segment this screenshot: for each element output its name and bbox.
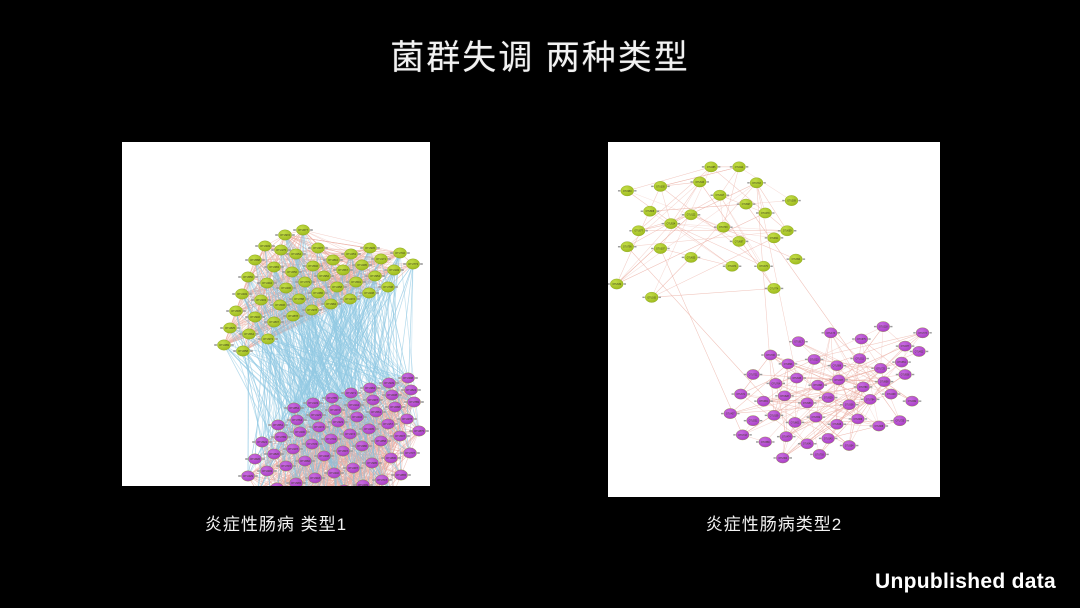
network-graph-type1: OTU972OTU677OTU175OTU349OTU254OTU307OTU5… <box>122 142 430 486</box>
svg-text:OTU486: OTU486 <box>313 291 323 295</box>
svg-text:OTU499: OTU499 <box>358 483 368 486</box>
svg-text:OTU144: OTU144 <box>349 403 359 407</box>
svg-text:OTU851: OTU851 <box>897 362 906 364</box>
svg-text:OTU725: OTU725 <box>896 421 905 423</box>
svg-text:OTU743: OTU743 <box>738 435 747 437</box>
svg-text:OTU997: OTU997 <box>742 204 751 206</box>
svg-text:OTU671: OTU671 <box>737 394 746 396</box>
svg-text:OTU820: OTU820 <box>269 452 279 456</box>
panel-background-right <box>608 142 940 497</box>
svg-text:OTU380: OTU380 <box>357 444 367 448</box>
svg-text:OTU794: OTU794 <box>866 399 875 401</box>
svg-text:OTU821: OTU821 <box>770 238 779 240</box>
svg-text:OTU175: OTU175 <box>276 248 286 252</box>
svg-text:OTU638: OTU638 <box>387 393 397 397</box>
svg-text:OTU159: OTU159 <box>770 415 779 417</box>
svg-text:OTU972: OTU972 <box>280 233 290 237</box>
svg-text:OTU524: OTU524 <box>257 440 267 444</box>
svg-text:OTU875: OTU875 <box>414 429 424 433</box>
svg-text:OTU939: OTU939 <box>384 381 394 385</box>
svg-text:OTU485: OTU485 <box>707 167 716 169</box>
svg-text:OTU658: OTU658 <box>238 349 248 353</box>
svg-text:OTU152: OTU152 <box>812 417 821 419</box>
svg-text:OTU708: OTU708 <box>383 285 393 289</box>
svg-text:OTU507: OTU507 <box>395 434 405 438</box>
svg-text:OTU364: OTU364 <box>778 458 787 460</box>
svg-text:OTU697: OTU697 <box>735 241 744 243</box>
svg-text:OTU133: OTU133 <box>308 401 318 405</box>
svg-text:OTU405: OTU405 <box>364 427 374 431</box>
svg-text:OTU971: OTU971 <box>346 391 356 395</box>
svg-text:OTU789: OTU789 <box>859 387 868 389</box>
svg-text:OTU773: OTU773 <box>918 333 927 335</box>
svg-text:OTU442: OTU442 <box>352 415 362 419</box>
svg-text:OTU149: OTU149 <box>389 268 399 272</box>
svg-text:OTU417: OTU417 <box>716 195 725 197</box>
svg-text:OTU254: OTU254 <box>291 252 301 256</box>
svg-text:OTU796: OTU796 <box>623 247 632 249</box>
svg-text:OTU774: OTU774 <box>770 288 779 290</box>
svg-text:OTU469: OTU469 <box>854 419 863 421</box>
svg-text:OTU384: OTU384 <box>365 386 375 390</box>
network-panel-type1: OTU972OTU677OTU175OTU349OTU254OTU307OTU5… <box>122 142 430 486</box>
svg-text:OTU251: OTU251 <box>749 421 758 423</box>
svg-text:OTU448: OTU448 <box>319 454 329 458</box>
svg-text:OTU440: OTU440 <box>329 471 339 475</box>
svg-text:OTU937: OTU937 <box>834 380 843 382</box>
svg-text:OTU477: OTU477 <box>901 346 910 348</box>
svg-text:OTU591: OTU591 <box>351 280 361 284</box>
svg-text:OTU470: OTU470 <box>761 213 770 215</box>
svg-text:OTU171: OTU171 <box>376 257 386 261</box>
svg-text:OTU323: OTU323 <box>333 420 343 424</box>
svg-text:OTU303: OTU303 <box>256 298 266 302</box>
svg-text:OTU165: OTU165 <box>647 297 656 299</box>
svg-text:OTU157: OTU157 <box>383 422 393 426</box>
svg-text:OTU561: OTU561 <box>371 410 381 414</box>
svg-text:OTU509: OTU509 <box>787 201 796 203</box>
svg-text:OTU983: OTU983 <box>623 191 632 193</box>
svg-text:OTU865: OTU865 <box>396 473 406 477</box>
svg-text:OTU505: OTU505 <box>231 309 241 313</box>
svg-text:OTU706: OTU706 <box>766 355 775 357</box>
svg-text:OTU332: OTU332 <box>908 401 917 403</box>
svg-text:OTU556: OTU556 <box>901 374 910 376</box>
svg-text:OTU953: OTU953 <box>803 403 812 405</box>
svg-text:OTU733: OTU733 <box>307 442 317 446</box>
svg-text:OTU659: OTU659 <box>783 231 792 233</box>
svg-text:OTU858: OTU858 <box>376 439 386 443</box>
svg-text:OTU409: OTU409 <box>887 394 896 396</box>
svg-text:OTU929: OTU929 <box>824 398 833 400</box>
svg-text:OTU422: OTU422 <box>915 351 924 353</box>
svg-text:OTU546: OTU546 <box>308 264 318 268</box>
svg-text:OTU810: OTU810 <box>328 258 338 262</box>
svg-text:OTU458: OTU458 <box>332 285 342 289</box>
svg-text:OTU308: OTU308 <box>403 376 413 380</box>
svg-text:OTU295: OTU295 <box>357 263 367 267</box>
svg-text:OTU123: OTU123 <box>311 413 321 417</box>
svg-text:OTU200: OTU200 <box>295 430 305 434</box>
svg-text:OTU307: OTU307 <box>313 246 323 250</box>
svg-text:OTU429: OTU429 <box>243 474 253 478</box>
svg-text:OTU877: OTU877 <box>634 231 643 233</box>
svg-text:OTU274: OTU274 <box>314 425 324 429</box>
svg-text:OTU497: OTU497 <box>348 466 358 470</box>
svg-text:OTU954: OTU954 <box>370 274 380 278</box>
svg-text:OTU854: OTU854 <box>289 406 299 410</box>
svg-text:OTU707: OTU707 <box>405 451 415 455</box>
svg-text:OTU828: OTU828 <box>780 396 789 398</box>
svg-text:OTU218: OTU218 <box>879 327 888 329</box>
svg-text:OTU143: OTU143 <box>824 438 833 440</box>
svg-text:OTU278: OTU278 <box>402 417 412 421</box>
svg-text:OTU453: OTU453 <box>346 252 356 256</box>
svg-text:OTU383: OTU383 <box>269 265 279 269</box>
svg-text:OTU773: OTU773 <box>408 262 418 266</box>
svg-text:OTU564: OTU564 <box>244 332 254 336</box>
svg-text:OTU779: OTU779 <box>300 280 310 284</box>
svg-text:OTU646: OTU646 <box>695 182 704 184</box>
svg-text:OTU354: OTU354 <box>845 445 854 447</box>
svg-text:OTU825: OTU825 <box>225 326 235 330</box>
svg-text:OTU474: OTU474 <box>782 437 791 439</box>
svg-text:OTU588: OTU588 <box>250 258 260 262</box>
svg-text:OTU641: OTU641 <box>803 444 812 446</box>
svg-text:OTU305: OTU305 <box>656 186 665 188</box>
svg-text:OTU688: OTU688 <box>390 405 400 409</box>
svg-text:OTU981: OTU981 <box>759 401 768 403</box>
svg-text:OTU747: OTU747 <box>377 478 387 482</box>
svg-text:OTU788: OTU788 <box>294 297 304 301</box>
svg-text:OTU107: OTU107 <box>288 447 298 451</box>
network-panel-type2: OTU305OTU646OTU417OTU414OTU793OTU534OTU4… <box>608 142 940 497</box>
svg-text:OTU789: OTU789 <box>276 435 286 439</box>
svg-text:OTU597: OTU597 <box>338 449 348 453</box>
svg-text:OTU830: OTU830 <box>386 456 396 460</box>
svg-text:OTU397: OTU397 <box>368 398 378 402</box>
svg-text:OTU534: OTU534 <box>667 224 676 226</box>
svg-text:OTU379: OTU379 <box>759 266 768 268</box>
svg-text:OTU223: OTU223 <box>810 359 819 361</box>
svg-text:OTU721: OTU721 <box>749 374 758 376</box>
svg-text:OTU952: OTU952 <box>319 274 329 278</box>
svg-text:OTU682: OTU682 <box>300 459 310 463</box>
svg-text:OTU203: OTU203 <box>262 469 272 473</box>
svg-text:OTU639: OTU639 <box>612 284 621 286</box>
svg-text:OTU307: OTU307 <box>656 248 665 250</box>
svg-text:OTU672: OTU672 <box>330 408 340 412</box>
svg-text:OTU807: OTU807 <box>269 320 279 324</box>
network-graph-type2: OTU305OTU646OTU417OTU414OTU793OTU534OTU4… <box>608 142 940 497</box>
svg-text:OTU386: OTU386 <box>833 366 842 368</box>
svg-text:OTU764: OTU764 <box>292 418 302 422</box>
svg-text:OTU858: OTU858 <box>880 382 889 384</box>
svg-text:OTU474: OTU474 <box>728 266 737 268</box>
credit-label: Unpublished data <box>875 570 1056 594</box>
svg-text:OTU793: OTU793 <box>815 454 824 456</box>
svg-text:OTU626: OTU626 <box>250 457 260 461</box>
svg-text:OTU554: OTU554 <box>273 423 283 427</box>
svg-text:OTU617: OTU617 <box>794 342 803 344</box>
svg-text:OTU567: OTU567 <box>338 268 348 272</box>
svg-text:OTU449: OTU449 <box>237 292 247 296</box>
svg-text:OTU893: OTU893 <box>784 364 793 366</box>
svg-text:OTU908: OTU908 <box>646 211 655 213</box>
caption-type2: 炎症性肠病类型2 <box>608 510 940 535</box>
svg-text:OTU973: OTU973 <box>263 337 273 341</box>
slide-root: 菌群失调 两种类型 OTU972OTU677OTU175OTU349OTU254… <box>0 0 1080 608</box>
svg-text:OTU589: OTU589 <box>761 442 770 444</box>
svg-text:OTU550: OTU550 <box>243 275 253 279</box>
svg-text:OTU675: OTU675 <box>857 339 866 341</box>
svg-text:OTU506: OTU506 <box>275 303 285 307</box>
svg-text:OTU978: OTU978 <box>307 308 317 312</box>
svg-text:OTU122: OTU122 <box>687 215 696 217</box>
svg-text:OTU878: OTU878 <box>288 314 298 318</box>
svg-text:OTU650: OTU650 <box>287 270 297 274</box>
svg-text:OTU946: OTU946 <box>250 315 260 319</box>
svg-text:OTU715: OTU715 <box>281 464 291 468</box>
svg-text:OTU945: OTU945 <box>365 246 375 250</box>
svg-text:OTU173: OTU173 <box>827 333 836 335</box>
svg-text:OTU489: OTU489 <box>219 343 229 347</box>
svg-text:OTU764: OTU764 <box>771 383 780 385</box>
page-title: 菌群失调 两种类型 <box>0 30 1080 79</box>
svg-text:OTU336: OTU336 <box>845 405 854 407</box>
svg-text:OTU824: OTU824 <box>406 388 416 392</box>
svg-text:OTU374: OTU374 <box>345 432 355 436</box>
svg-text:OTU725: OTU725 <box>876 368 885 370</box>
svg-text:OTU785: OTU785 <box>327 396 337 400</box>
svg-text:OTU457: OTU457 <box>726 414 735 416</box>
svg-text:OTU984: OTU984 <box>326 302 336 306</box>
svg-text:OTU468: OTU468 <box>875 426 884 428</box>
svg-text:OTU414: OTU414 <box>735 167 744 169</box>
svg-text:OTU718: OTU718 <box>752 183 761 185</box>
svg-text:OTU655: OTU655 <box>687 257 696 259</box>
svg-text:OTU995: OTU995 <box>367 461 377 465</box>
svg-text:OTU311: OTU311 <box>855 359 864 361</box>
svg-text:OTU472: OTU472 <box>345 297 355 301</box>
svg-text:OTU677: OTU677 <box>298 228 308 232</box>
caption-type1: 炎症性肠病 类型1 <box>92 510 460 535</box>
svg-text:OTU998: OTU998 <box>813 385 822 387</box>
svg-text:OTU965: OTU965 <box>291 481 301 485</box>
svg-text:OTU208: OTU208 <box>364 291 374 295</box>
svg-text:OTU648: OTU648 <box>833 424 842 426</box>
svg-text:OTU702: OTU702 <box>395 251 405 255</box>
svg-text:OTU494: OTU494 <box>792 259 801 261</box>
svg-text:OTU494: OTU494 <box>262 281 272 285</box>
svg-text:OTU794: OTU794 <box>326 437 336 441</box>
svg-text:OTU789: OTU789 <box>409 400 419 404</box>
svg-text:OTU349: OTU349 <box>260 244 270 248</box>
svg-text:OTU801: OTU801 <box>791 422 800 424</box>
svg-text:OTU645: OTU645 <box>792 378 801 380</box>
svg-text:OTU318: OTU318 <box>310 476 320 480</box>
svg-text:OTU793: OTU793 <box>719 227 728 229</box>
svg-text:OTU406: OTU406 <box>281 286 291 290</box>
